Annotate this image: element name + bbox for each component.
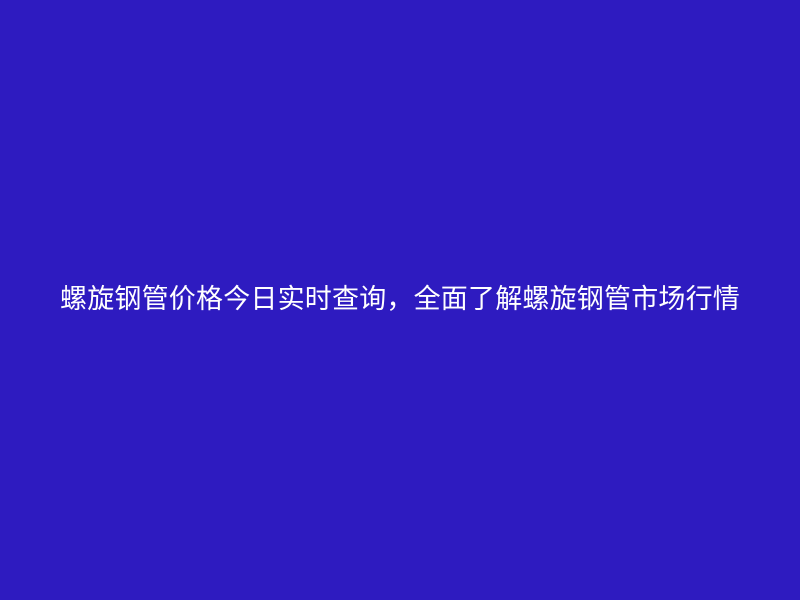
banner-canvas: 螺旋钢管价格今日实时查询，全面了解螺旋钢管市场行情 (0, 0, 800, 600)
page-title: 螺旋钢管价格今日实时查询，全面了解螺旋钢管市场行情 (50, 273, 750, 327)
headline-block: 螺旋钢管价格今日实时查询，全面了解螺旋钢管市场行情 (50, 273, 750, 327)
